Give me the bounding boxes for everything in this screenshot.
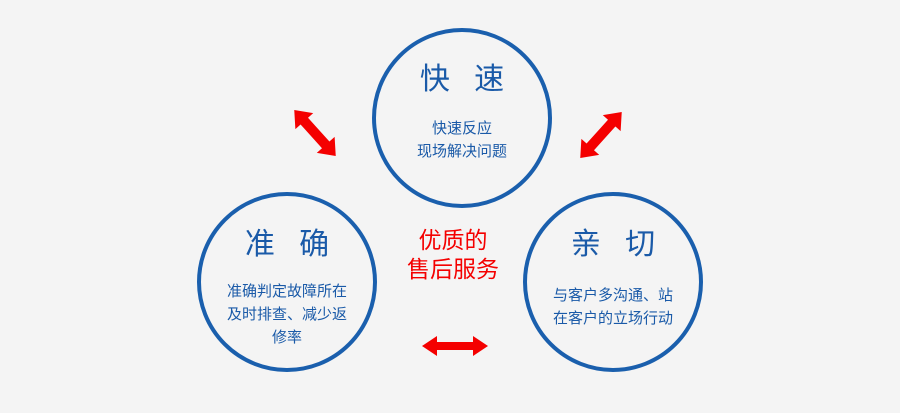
double-arrow-horizontal-icon xyxy=(420,332,490,360)
circle-node-friendly-title: 亲 切 xyxy=(563,230,663,260)
circle-node-fast-title: 快 速 xyxy=(412,65,512,95)
center-caption: 优质的 售后服务 xyxy=(390,226,516,284)
double-arrow-diagonal-up-right-icon xyxy=(292,100,338,166)
double-arrow-diagonal-down-right-icon xyxy=(578,102,624,168)
circle-node-accurate-title: 准 确 xyxy=(237,230,337,260)
circle-node-fast[interactable]: 快 速 快速反应 现场解决问题 xyxy=(372,28,552,208)
circle-node-friendly-description: 与客户多沟通、站 在客户的立场行动 xyxy=(529,284,697,330)
diagram-canvas: 快 速 快速反应 现场解决问题 准 确 准确判定故障所在 及时排查、减少返 修率… xyxy=(0,0,900,413)
circle-node-fast-description: 快速反应 现场解决问题 xyxy=(378,117,546,163)
circle-node-accurate-description: 准确判定故障所在 及时排查、减少返 修率 xyxy=(203,280,371,349)
circle-node-friendly[interactable]: 亲 切 与客户多沟通、站 在客户的立场行动 xyxy=(523,192,703,372)
circle-node-accurate[interactable]: 准 确 准确判定故障所在 及时排查、减少返 修率 xyxy=(197,192,377,372)
